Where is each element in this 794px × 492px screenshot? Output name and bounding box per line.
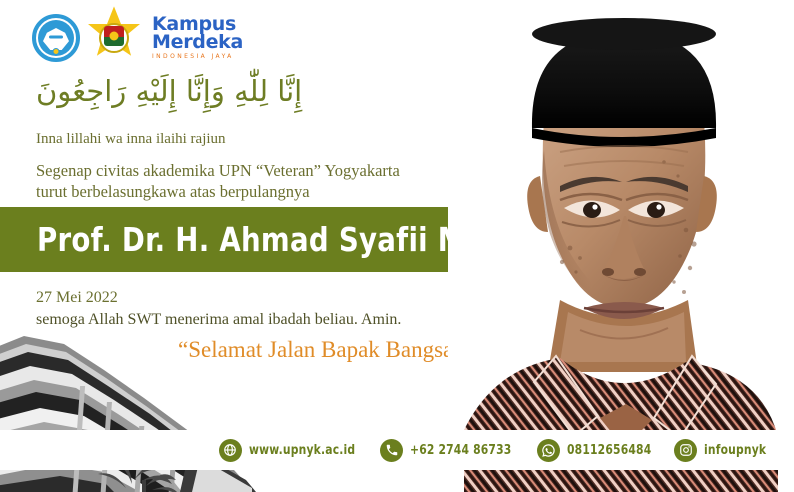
whatsapp-label: 08112656484 — [567, 443, 651, 458]
logo-bird-line — [49, 36, 63, 39]
deceased-portrait — [448, 0, 794, 492]
deceased-name-banner: Prof. Dr. H. Ahmad Syafii Maarif — [0, 207, 512, 272]
upn-veteran-logo — [90, 14, 138, 62]
logo-crest — [104, 26, 124, 46]
phone-icon — [380, 439, 403, 462]
contact-instagram[interactable]: infoupnyk — [674, 439, 772, 462]
institution-text: Segenap civitas akademika UPN “Veteran” … — [36, 160, 400, 202]
arabic-calligraphy: إِنَّا لِلّٰهِ وَإِنَّا إِلَيْهِ رَاجِعُ… — [36, 70, 302, 112]
logo-row: Kampus Merdeka INDONESIA JAYA — [32, 14, 243, 62]
farewell-quote: “Selamat Jalan Bapak Bangsa” — [178, 337, 463, 363]
condolence-poster: Kampus Merdeka INDONESIA JAYA إِنَّا لِل… — [0, 0, 794, 492]
contact-phone[interactable]: +62 2744 86733 — [380, 439, 520, 462]
institution-line-2: turut berbelasungkawa atas berpulangnya — [36, 181, 400, 202]
kampus-merdeka-logo: Kampus Merdeka INDONESIA JAYA — [152, 16, 243, 59]
instagram-label: infoupnyk — [704, 443, 766, 458]
phone-label: +62 2744 86733 — [410, 443, 511, 458]
contact-whatsapp[interactable]: 08112656484 — [537, 439, 659, 462]
prayer-text: semoga Allah SWT menerima amal ibadah be… — [36, 311, 401, 329]
tut-wuri-handayani-logo — [32, 14, 80, 62]
instagram-icon — [674, 439, 697, 462]
transliteration-line: Inna lillahi wa inna ilaihi rajiun — [36, 131, 226, 148]
website-label: www.upnyk.ac.id — [249, 443, 355, 458]
kampus-merdeka-tagline: INDONESIA JAYA — [152, 54, 243, 60]
institution-line-1: Segenap civitas akademika UPN “Veteran” … — [36, 160, 400, 181]
kampus-merdeka-line2: Merdeka — [152, 34, 243, 51]
death-date: 27 Mei 2022 — [36, 289, 118, 307]
contact-website[interactable]: www.upnyk.ac.id — [219, 439, 365, 462]
whatsapp-icon — [537, 439, 560, 462]
logo-bead — [53, 48, 60, 55]
contact-bar: www.upnyk.ac.id +62 2744 86733 081126564… — [0, 430, 794, 470]
globe-icon — [219, 439, 242, 462]
